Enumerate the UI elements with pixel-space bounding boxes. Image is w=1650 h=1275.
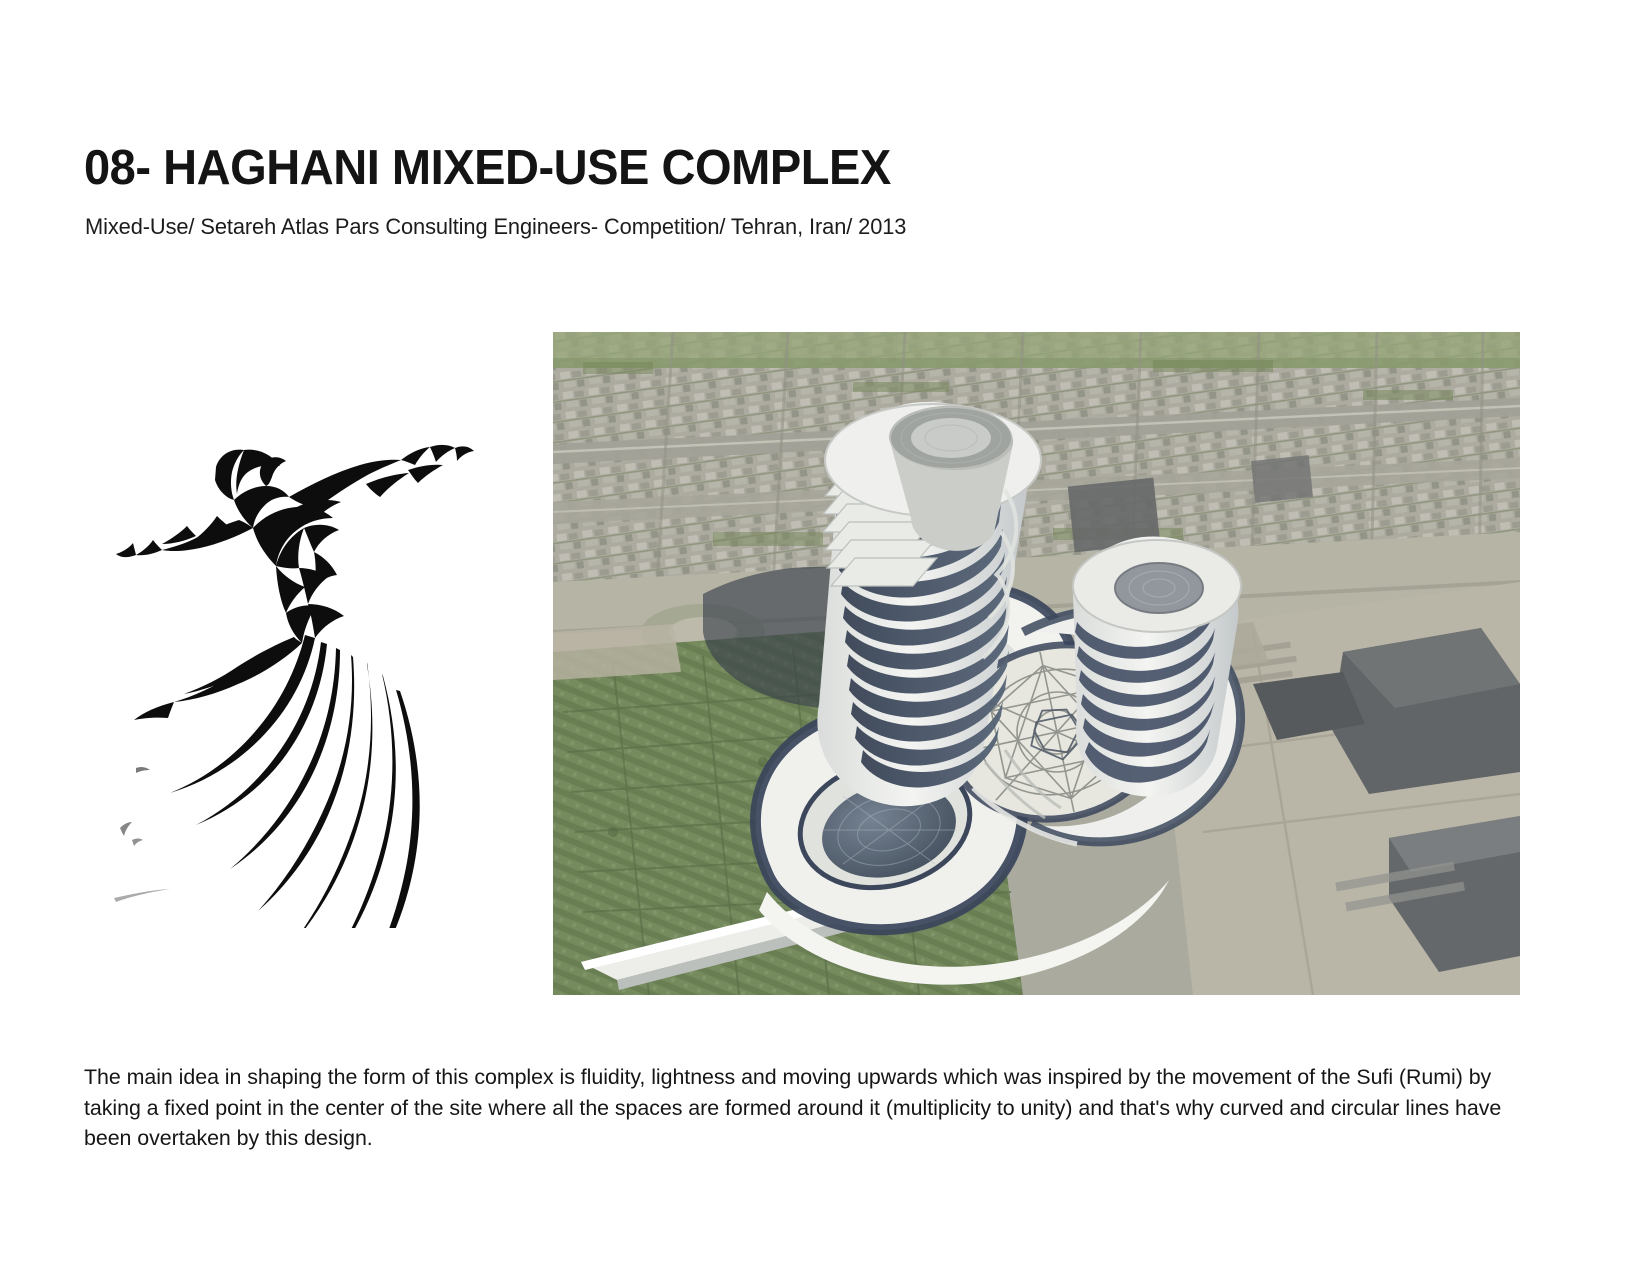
aerial-render-image bbox=[553, 332, 1520, 995]
page-title: 08- HAGHANI MIXED-USE COMPLEX bbox=[84, 143, 891, 194]
dervish-ink-strokes bbox=[114, 445, 474, 928]
whirling-dervish-illustration bbox=[108, 408, 478, 928]
project-description-caption: The main idea in shaping the form of thi… bbox=[84, 1062, 1549, 1154]
page-subtitle: Mixed-Use/ Setareh Atlas Pars Consulting… bbox=[85, 214, 906, 240]
